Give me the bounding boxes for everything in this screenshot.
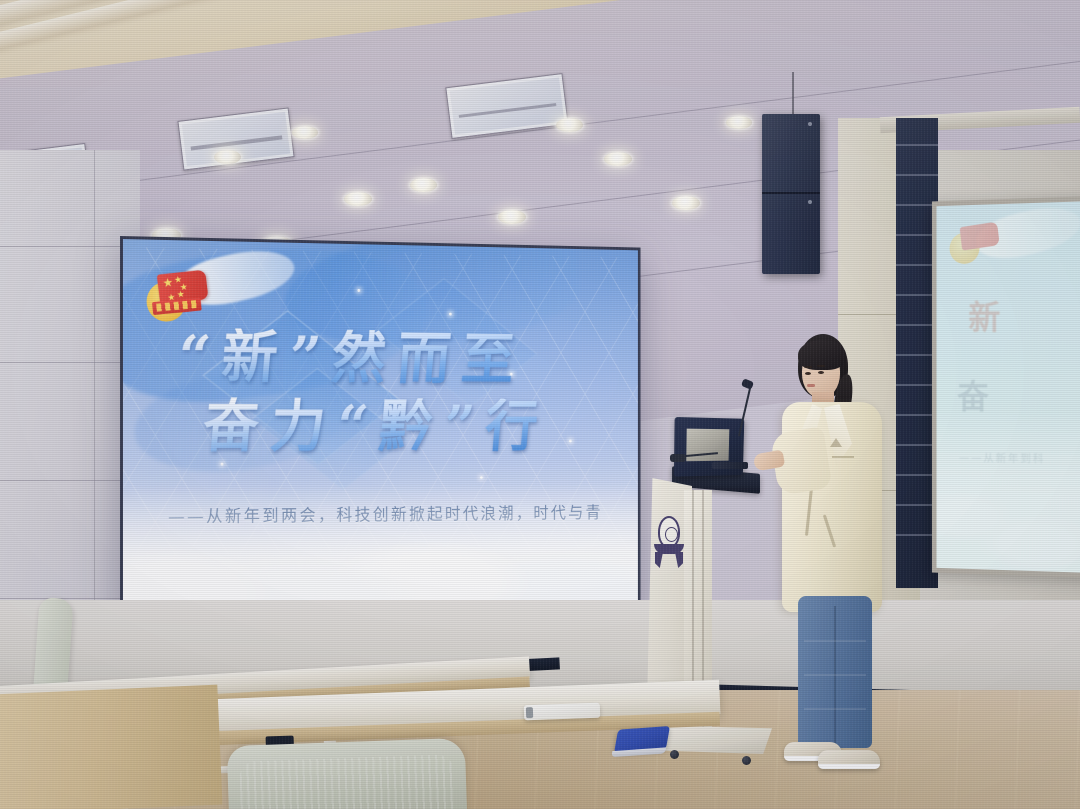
- slide-sparkle: [220, 463, 223, 466]
- ceiling-downlight: [292, 126, 318, 139]
- right-projection-screen[interactable]: 新 奋 ——从新年到科: [932, 196, 1080, 578]
- smartphone[interactable]: [614, 726, 670, 753]
- sneaker-right: [818, 750, 880, 769]
- ceiling-downlight: [410, 178, 437, 192]
- eye: [818, 371, 824, 374]
- lectern-caster: [742, 756, 751, 765]
- desk-modesty-panel: [0, 685, 222, 809]
- ceiling-downlight: [498, 210, 526, 224]
- presenter-woman: [776, 334, 886, 774]
- eyebrow: [804, 366, 812, 368]
- national-emblem-flag-badge: ★ ★ ★ ★ ★: [145, 265, 215, 324]
- lectern-caster: [670, 750, 679, 759]
- ceiling-downlight: [672, 196, 700, 210]
- ceiling-downlight: [344, 192, 372, 206]
- blazer-chest-pocket: [832, 456, 854, 458]
- microphone-base: [670, 454, 686, 462]
- led-screen-content: ★ ★ ★ ★ ★ “新”然而至 奋力“黔”行 ——从新年到两会，科技创新掀起时…: [123, 239, 638, 625]
- lectern-base: [662, 726, 772, 754]
- eyebrow: [817, 365, 825, 367]
- blazer-pocket-flap: [830, 438, 842, 447]
- speaker-suspension-wire: [792, 72, 794, 118]
- mouth: [807, 384, 815, 387]
- lectern-keyboard-tray[interactable]: [712, 462, 748, 469]
- slide-headline: “新”然而至 奋力“黔”行: [174, 328, 574, 455]
- eye: [805, 372, 811, 375]
- chair-front-row[interactable]: [227, 738, 468, 809]
- ceiling-downlight: [604, 152, 632, 166]
- lecture-hall-scene: ★ ★ ★ ★ ★ “新”然而至 奋力“黔”行 ——从新年到两会，科技创新掀起时…: [0, 0, 1080, 809]
- ceiling-downlight: [556, 118, 583, 132]
- proj-washout-overlay: [937, 201, 1080, 573]
- slide-title-line-2: 奋力“黔”行: [201, 397, 577, 454]
- school-crest-emblem: [654, 516, 684, 572]
- led-video-wall[interactable]: ★ ★ ★ ★ ★ “新”然而至 奋力“黔”行 ——从新年到两会，科技创新掀起时…: [120, 236, 641, 628]
- blue-jeans: [798, 596, 872, 748]
- ceiling-downlight: [214, 150, 241, 164]
- projection-screen-content: 新 奋 ——从新年到科: [937, 201, 1080, 573]
- ceiling-speaker: [762, 114, 820, 274]
- ceiling-downlight: [726, 116, 752, 129]
- slide-title-line-1: “新”然而至: [175, 328, 576, 388]
- desk-remote-device[interactable]: [524, 703, 600, 721]
